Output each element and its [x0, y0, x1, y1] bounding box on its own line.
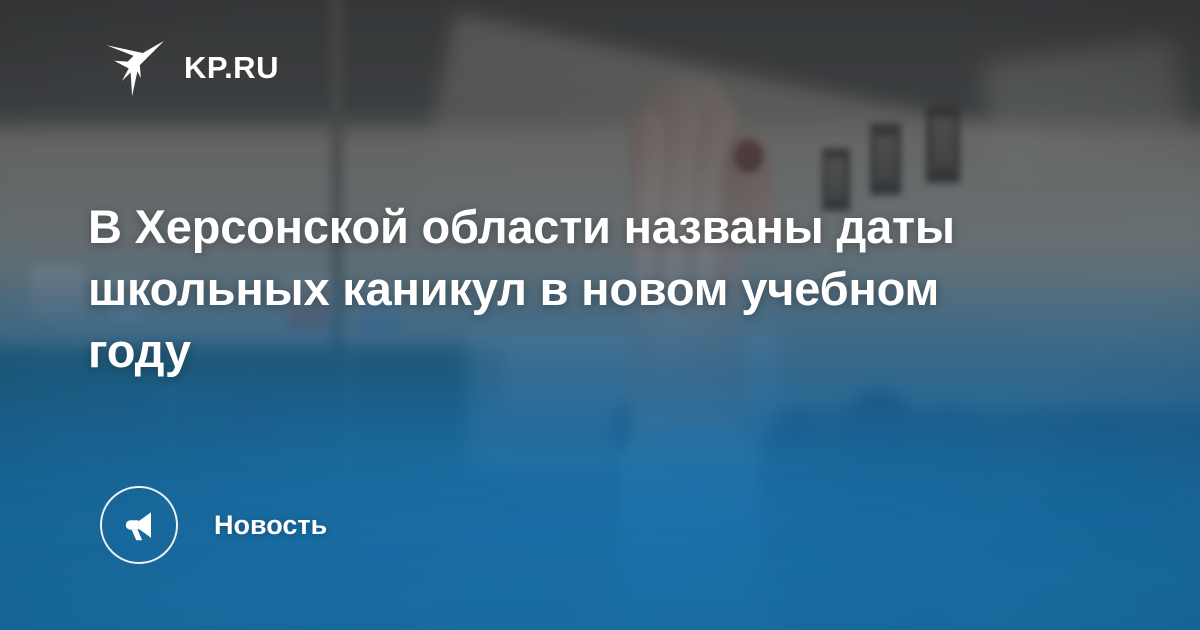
page-title: В Херсонской области названы даты школьн…	[88, 196, 1048, 382]
content-type-tag[interactable]: Новость	[100, 486, 327, 564]
kp-swallow-bird-icon	[104, 36, 166, 98]
content-type-label: Новость	[214, 512, 327, 539]
brand-name: KP.RU	[184, 52, 279, 83]
news-share-card: KP.RU В Херсонской области названы даты …	[0, 0, 1200, 630]
megaphone-icon	[118, 504, 160, 546]
megaphone-badge	[100, 486, 178, 564]
card-content: KP.RU В Херсонской области названы даты …	[0, 0, 1200, 630]
brand-lockup[interactable]: KP.RU	[104, 36, 279, 98]
